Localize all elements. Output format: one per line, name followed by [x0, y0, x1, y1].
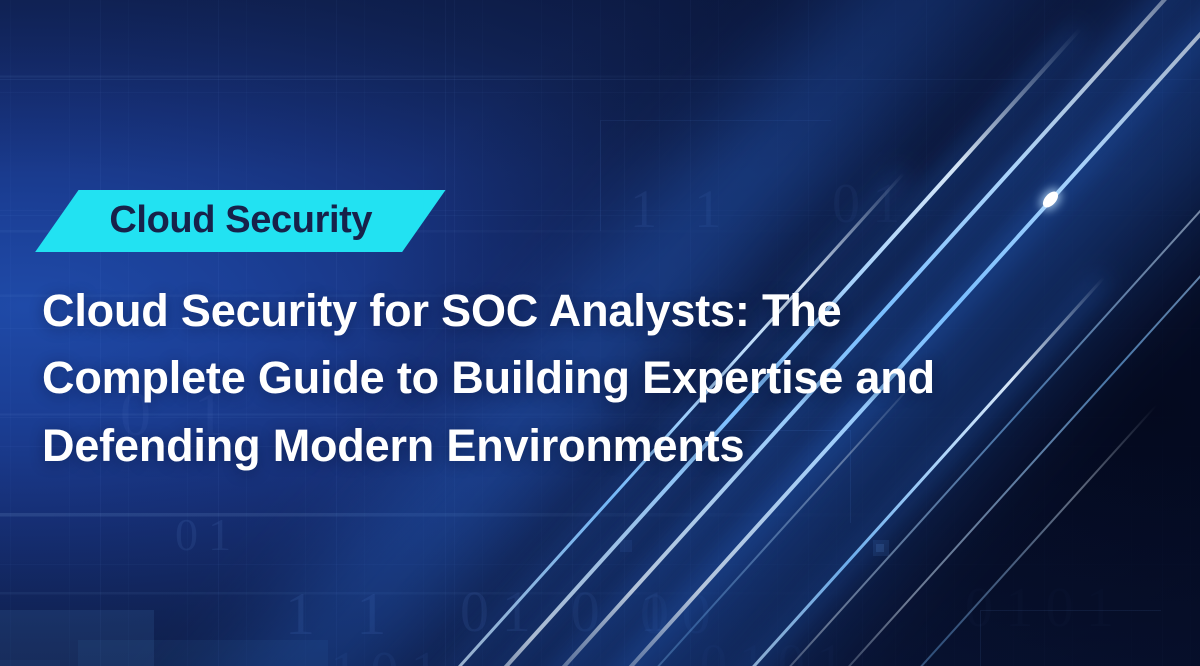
- blog-hero-banner: 1 1 01 0 1 1 1 01 0 1 00 0101 01 101 010…: [0, 0, 1200, 666]
- page-title-line: Cloud Security for SOC Analysts: The: [42, 285, 841, 336]
- category-badge-wrapper: Cloud Security: [57, 190, 424, 252]
- page-title-line: Defending Modern Environments: [42, 420, 744, 471]
- category-badge[interactable]: Cloud Security: [35, 190, 445, 252]
- page-title: Cloud Security for SOC Analysts: The Com…: [42, 277, 1052, 480]
- category-badge-label: Cloud Security: [109, 199, 372, 242]
- page-title-line: Complete Guide to Building Expertise and: [42, 352, 935, 403]
- hero-content: Cloud Security Cloud Security for SOC An…: [42, 190, 1082, 509]
